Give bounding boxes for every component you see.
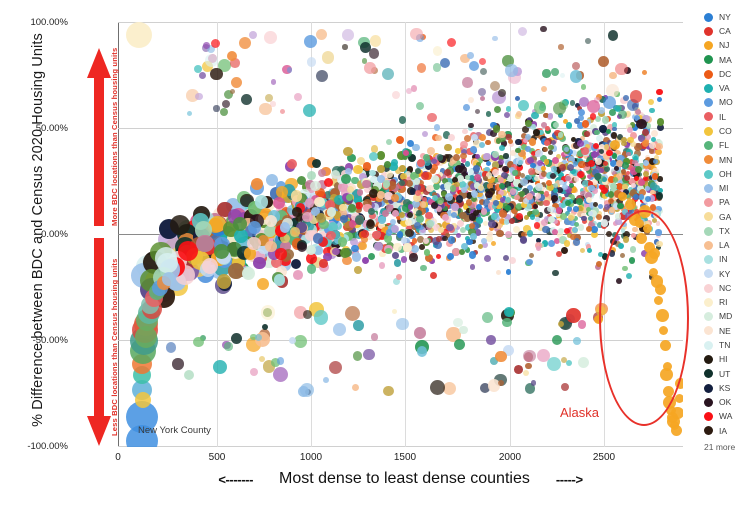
legend[interactable]: NYCANJMADCVAMOILCOFLMNOHMIPAGATXLAINKYNC… <box>702 10 754 452</box>
scatter-point <box>506 106 511 111</box>
scatter-point <box>479 142 485 148</box>
scatter-point <box>298 386 309 397</box>
scatter-point <box>484 255 491 262</box>
scatter-point <box>462 129 468 135</box>
scatter-point <box>259 103 271 115</box>
scatter-point <box>574 118 580 124</box>
scatter-point <box>403 243 411 251</box>
scatter-point <box>371 333 379 341</box>
scatter-point <box>609 72 616 79</box>
scatter-point <box>504 112 510 118</box>
scatter-point <box>615 213 621 219</box>
legend-item-ok[interactable]: OK <box>702 395 754 409</box>
scatter-point <box>506 269 511 274</box>
scatter-point <box>526 193 533 200</box>
scatter-point <box>316 70 328 82</box>
scatter-point <box>390 219 396 225</box>
legend-item-hi[interactable]: HI <box>702 352 754 366</box>
scatter-point <box>492 36 498 42</box>
scatter-point <box>577 140 584 147</box>
legend-item-ma[interactable]: MA <box>702 53 754 67</box>
scatter-point <box>675 394 683 403</box>
scatter-point <box>420 201 426 207</box>
legend-swatch-icon <box>704 355 713 364</box>
scatter-point <box>656 192 664 200</box>
legend-swatch-icon <box>704 127 713 136</box>
legend-swatch-icon <box>704 212 713 221</box>
legend-item-tn[interactable]: TN <box>702 338 754 352</box>
scatter-point <box>496 230 503 237</box>
scatter-point <box>601 187 608 194</box>
scatter-point <box>287 67 293 73</box>
x-tick-label-2500: 2500 <box>574 452 634 463</box>
scatter-point <box>253 257 265 269</box>
scatter-point <box>558 228 564 234</box>
scatter-point <box>430 380 445 395</box>
legend-swatch-icon <box>704 70 713 79</box>
scatter-point <box>451 203 458 210</box>
scatter-point <box>527 230 533 236</box>
legend-swatch-icon <box>704 255 713 264</box>
scatter-point <box>609 207 615 213</box>
scatter-point <box>205 54 218 67</box>
scatter-point <box>657 118 664 125</box>
scatter-point <box>437 197 444 204</box>
legend-item-ny[interactable]: NY <box>702 10 754 24</box>
scatter-point <box>363 349 375 361</box>
less-bdc-arrow-icon <box>86 238 112 446</box>
x-tick-label-0: 0 <box>88 452 148 463</box>
legend-swatch-icon <box>704 227 713 236</box>
scatter-point <box>508 139 513 144</box>
x-axis-title: Most dense to least dense counties <box>279 470 530 488</box>
scatter-point <box>319 259 328 268</box>
y-tick-label-0: 0.00% <box>4 229 68 240</box>
scatter-point <box>504 219 510 225</box>
scatter-point <box>485 140 491 146</box>
scatter-point <box>455 148 460 153</box>
scatter-point <box>625 199 636 210</box>
scatter-point <box>588 160 595 167</box>
legend-item-label: CO <box>719 127 732 136</box>
scatter-point <box>649 142 656 149</box>
scatter-point <box>162 272 176 286</box>
scatter-point <box>224 342 232 350</box>
scatter-point <box>627 137 633 143</box>
scatter-point <box>548 113 554 119</box>
legend-item-nc[interactable]: NC <box>702 281 754 295</box>
scatter-point <box>553 188 558 193</box>
legend-swatch-icon <box>704 84 713 93</box>
legend-item-il[interactable]: IL <box>702 110 754 124</box>
more-bdc-arrow-icon <box>86 48 112 226</box>
scatter-point <box>540 26 547 33</box>
scatter-point <box>500 197 505 202</box>
scatter-point <box>431 175 438 182</box>
scatter-point <box>459 326 468 335</box>
scatter-point <box>486 111 492 117</box>
scatter-point <box>386 229 392 235</box>
scatter-point <box>307 264 317 274</box>
scatter-point <box>265 215 277 227</box>
scatter-point <box>379 262 385 268</box>
legend-item-ks[interactable]: KS <box>702 381 754 395</box>
scatter-point <box>561 383 569 391</box>
legend-swatch-icon <box>704 284 713 293</box>
legend-swatch-icon <box>704 298 713 307</box>
legend-item-ky[interactable]: KY <box>702 267 754 281</box>
scatter-point <box>588 211 593 216</box>
legend-swatch-icon <box>704 326 713 335</box>
scatter-point <box>468 123 474 129</box>
scatter-point <box>498 131 505 138</box>
legend-item-label: FL <box>719 141 729 150</box>
scatter-point <box>465 175 470 180</box>
scatter-point <box>448 236 456 244</box>
x-tick-label-1500: 1500 <box>375 452 435 463</box>
plot-area: Alaska New York County <box>118 22 683 447</box>
legend-item-fl[interactable]: FL <box>702 138 754 152</box>
scatter-point <box>541 166 546 171</box>
scatter-point <box>433 46 442 55</box>
scatter-point <box>248 221 261 234</box>
legend-swatch-icon <box>704 398 713 407</box>
scatter-point <box>588 185 594 191</box>
scatter-point <box>372 231 381 240</box>
scatter-point <box>534 222 541 229</box>
scatter-point <box>573 337 581 345</box>
scatter-point <box>370 35 381 46</box>
legend-item-label: HI <box>719 355 728 364</box>
scatter-point <box>231 333 242 344</box>
scatter-point <box>233 217 247 231</box>
scatter-point <box>510 188 517 195</box>
scatter-point <box>434 124 440 130</box>
scatter-point <box>610 183 617 190</box>
scatter-point <box>469 251 476 258</box>
scatter-point <box>280 109 286 115</box>
scatter-point <box>423 238 429 244</box>
scatter-point <box>193 337 204 348</box>
scatter-point <box>496 138 501 143</box>
scatter-point <box>348 204 356 212</box>
scatter-point <box>294 93 302 101</box>
scatter-point <box>303 310 312 319</box>
scatter-point <box>323 377 329 383</box>
scatter-point <box>553 122 559 128</box>
scatter-point <box>358 242 367 251</box>
scatter-point <box>362 257 369 264</box>
scatter-point <box>170 215 190 235</box>
legend-item-ne[interactable]: NE <box>702 324 754 338</box>
scatter-point <box>409 253 417 261</box>
scatter-point <box>401 256 407 262</box>
scatter-point <box>475 109 480 114</box>
scatter-point <box>241 94 252 105</box>
legend-item-pa[interactable]: PA <box>702 195 754 209</box>
scatter-point <box>621 141 627 147</box>
scatter-point <box>307 171 316 180</box>
scatter-point <box>427 113 436 122</box>
scatter-point <box>518 160 523 165</box>
scatter-point <box>535 150 542 157</box>
scatter-point <box>327 207 336 216</box>
scatter-point <box>357 189 364 196</box>
scatter-point <box>595 158 602 165</box>
scatter-point <box>340 215 348 223</box>
scatter-point <box>341 174 351 184</box>
scatter-point <box>602 177 607 182</box>
scatter-point <box>649 108 654 113</box>
scatter-point <box>581 216 586 221</box>
legend-item-mn[interactable]: MN <box>702 153 754 167</box>
scatter-point <box>598 56 610 68</box>
scatter-point <box>566 122 573 129</box>
scatter-point <box>420 265 426 271</box>
scatter-point <box>548 216 555 223</box>
scatter-point <box>478 244 484 250</box>
scatter-point <box>275 248 287 260</box>
scatter-point <box>610 140 620 150</box>
scatter-point <box>478 185 484 191</box>
scatter-point <box>486 335 496 345</box>
scatter-point <box>542 226 549 233</box>
scatter-point <box>509 257 516 264</box>
scatter-point <box>648 99 654 105</box>
scatter-point <box>650 182 657 189</box>
legend-item-label: MA <box>719 56 732 65</box>
scatter-point <box>671 407 683 420</box>
scatter-point <box>523 370 529 376</box>
scatter-point <box>516 111 522 117</box>
scatter-point <box>354 266 362 274</box>
legend-item-label: DC <box>719 70 731 79</box>
scatter-point <box>529 253 534 258</box>
scatter-point <box>570 100 575 105</box>
scatter-point <box>444 144 452 152</box>
scatter-point <box>440 58 450 68</box>
scatter-point <box>495 351 507 363</box>
scatter-point <box>491 241 496 246</box>
scatter-point <box>382 68 394 80</box>
scatter-point <box>377 151 385 159</box>
legend-swatch-icon <box>704 241 713 250</box>
scatter-point <box>596 214 602 220</box>
new-york-county-label: New York County <box>138 425 211 436</box>
scatter-point <box>551 166 556 171</box>
scatter-point <box>606 84 619 97</box>
scatter-point <box>518 100 529 111</box>
scatter-point <box>213 105 219 111</box>
scatter-point <box>504 307 514 317</box>
scatter-point <box>570 70 583 83</box>
scatter-point <box>645 196 651 202</box>
scatter-point <box>483 221 488 226</box>
legend-item-ia[interactable]: IA <box>702 424 754 438</box>
scatter-point <box>447 253 455 261</box>
scatter-point <box>518 27 527 36</box>
scatter-point <box>291 190 302 201</box>
legend-item-la[interactable]: LA <box>702 238 754 252</box>
scatter-point <box>472 193 477 198</box>
legend-swatch-icon <box>704 170 713 179</box>
scatter-point <box>453 318 462 327</box>
scatter-point <box>595 116 601 122</box>
scatter-point <box>392 91 400 99</box>
scatter-point <box>601 219 609 227</box>
scatter-point <box>480 68 488 76</box>
legend-swatch-icon <box>704 98 713 107</box>
legend-item-in[interactable]: IN <box>702 253 754 267</box>
scatter-point <box>480 96 485 101</box>
scatter-point <box>520 236 527 243</box>
scatter-point <box>642 70 647 75</box>
scatter-point <box>304 35 317 48</box>
scatter-point <box>488 220 496 228</box>
scatter-point <box>503 153 508 158</box>
scatter-point <box>460 153 466 159</box>
legend-item-label: LA <box>719 241 729 250</box>
x-axis-right-arrow: -----> <box>556 472 583 487</box>
legend-item-ga[interactable]: GA <box>702 210 754 224</box>
scatter-point <box>322 51 335 64</box>
scatter-point <box>386 139 392 145</box>
legend-item-mo[interactable]: MO <box>702 96 754 110</box>
scatter-point <box>462 77 472 87</box>
legend-item-label: PA <box>719 198 730 207</box>
scatter-point <box>399 116 407 124</box>
scatter-point <box>493 200 499 206</box>
scatter-point <box>374 242 383 251</box>
scatter-point <box>505 231 512 238</box>
legend-item-label: NY <box>719 13 731 22</box>
scatter-point <box>581 84 587 90</box>
scatter-point <box>378 216 386 224</box>
scatter-point <box>361 230 369 238</box>
scatter-point <box>651 137 656 142</box>
scatter-point <box>543 200 549 206</box>
scatter-point <box>442 236 448 242</box>
scatter-point <box>657 97 663 103</box>
scatter-point <box>307 57 317 67</box>
scatter-point <box>454 182 459 187</box>
y-tick-label-neg100: -100.00% <box>4 441 68 452</box>
scatter-point <box>417 346 427 356</box>
scatter-point <box>230 89 235 94</box>
scatter-point <box>578 320 586 328</box>
legend-item-va[interactable]: VA <box>702 81 754 95</box>
legend-item-dc[interactable]: DC <box>702 67 754 81</box>
scatter-point <box>345 306 360 321</box>
scatter-point <box>187 111 192 116</box>
scatter-point <box>671 425 682 436</box>
legend-item-co[interactable]: CO <box>702 124 754 138</box>
scatter-point <box>414 178 421 185</box>
scatter-point <box>392 309 397 314</box>
scatter-point <box>499 183 505 189</box>
scatter-point <box>242 267 255 280</box>
legend-item-ri[interactable]: RI <box>702 295 754 309</box>
scatter-point <box>405 229 413 237</box>
scatter-point <box>421 172 429 180</box>
legend-item-ut[interactable]: UT <box>702 367 754 381</box>
legend-item-label: IN <box>719 255 728 264</box>
scatter-point <box>643 171 649 177</box>
scatter-point <box>274 274 285 285</box>
legend-item-label: KS <box>719 384 730 393</box>
scatter-point <box>544 159 549 164</box>
scatter-point <box>553 102 566 115</box>
scatter-point <box>353 165 362 174</box>
scatter-point <box>211 39 220 48</box>
scatter-point <box>499 145 505 151</box>
scatter-point <box>437 154 443 160</box>
scatter-point <box>203 42 210 49</box>
legend-item-oh[interactable]: OH <box>702 167 754 181</box>
scatter-point <box>332 248 340 256</box>
legend-item-ca[interactable]: CA <box>702 24 754 38</box>
scatter-point <box>525 146 531 152</box>
legend-item-tx[interactable]: TX <box>702 224 754 238</box>
scatter-point <box>369 170 375 176</box>
scatter-point <box>396 318 409 331</box>
scatter-point <box>293 270 303 280</box>
scatter-point <box>399 165 405 171</box>
legend-item-label: MI <box>719 184 728 193</box>
legend-item-wa[interactable]: WA <box>702 409 754 423</box>
scatter-point <box>618 110 627 119</box>
scatter-point <box>135 326 157 348</box>
legend-item-label: WA <box>719 412 732 421</box>
scatter-point <box>447 38 456 47</box>
legend-swatch-icon <box>704 198 713 207</box>
y-tick-label-100: 100.00% <box>4 17 68 28</box>
scatter-point <box>574 176 580 182</box>
scatter-point <box>417 63 426 72</box>
scatter-point <box>257 278 269 290</box>
scatter-point <box>552 335 562 345</box>
scatter-point <box>576 198 583 205</box>
legend-swatch-icon <box>704 384 713 393</box>
legend-item-nj[interactable]: NJ <box>702 39 754 53</box>
scatter-point <box>496 270 501 275</box>
scatter-point <box>287 159 297 169</box>
scatter-point <box>580 248 586 254</box>
legend-item-label: OK <box>719 398 731 407</box>
scatter-point <box>415 190 421 196</box>
scatter-point <box>355 215 364 224</box>
scatter-point <box>604 144 610 150</box>
scatter-point <box>422 131 428 137</box>
x-tick-label-2000: 2000 <box>480 452 540 463</box>
scatter-point <box>431 202 438 209</box>
scatter-point <box>535 183 542 190</box>
scatter-point <box>556 251 562 257</box>
scatter-point <box>572 62 580 70</box>
legend-item-md[interactable]: MD <box>702 310 754 324</box>
legend-swatch-icon <box>704 41 713 50</box>
scatter-point <box>543 147 548 152</box>
legend-item-label: TX <box>719 227 730 236</box>
legend-item-label: IL <box>719 113 726 122</box>
legend-more-label[interactable]: 21 more <box>704 442 754 452</box>
scatter-point <box>353 320 364 331</box>
scatter-point <box>498 159 504 165</box>
legend-swatch-icon <box>704 155 713 164</box>
scatter-point <box>548 145 554 151</box>
scatter-point <box>435 135 441 141</box>
legend-item-mi[interactable]: MI <box>702 181 754 195</box>
